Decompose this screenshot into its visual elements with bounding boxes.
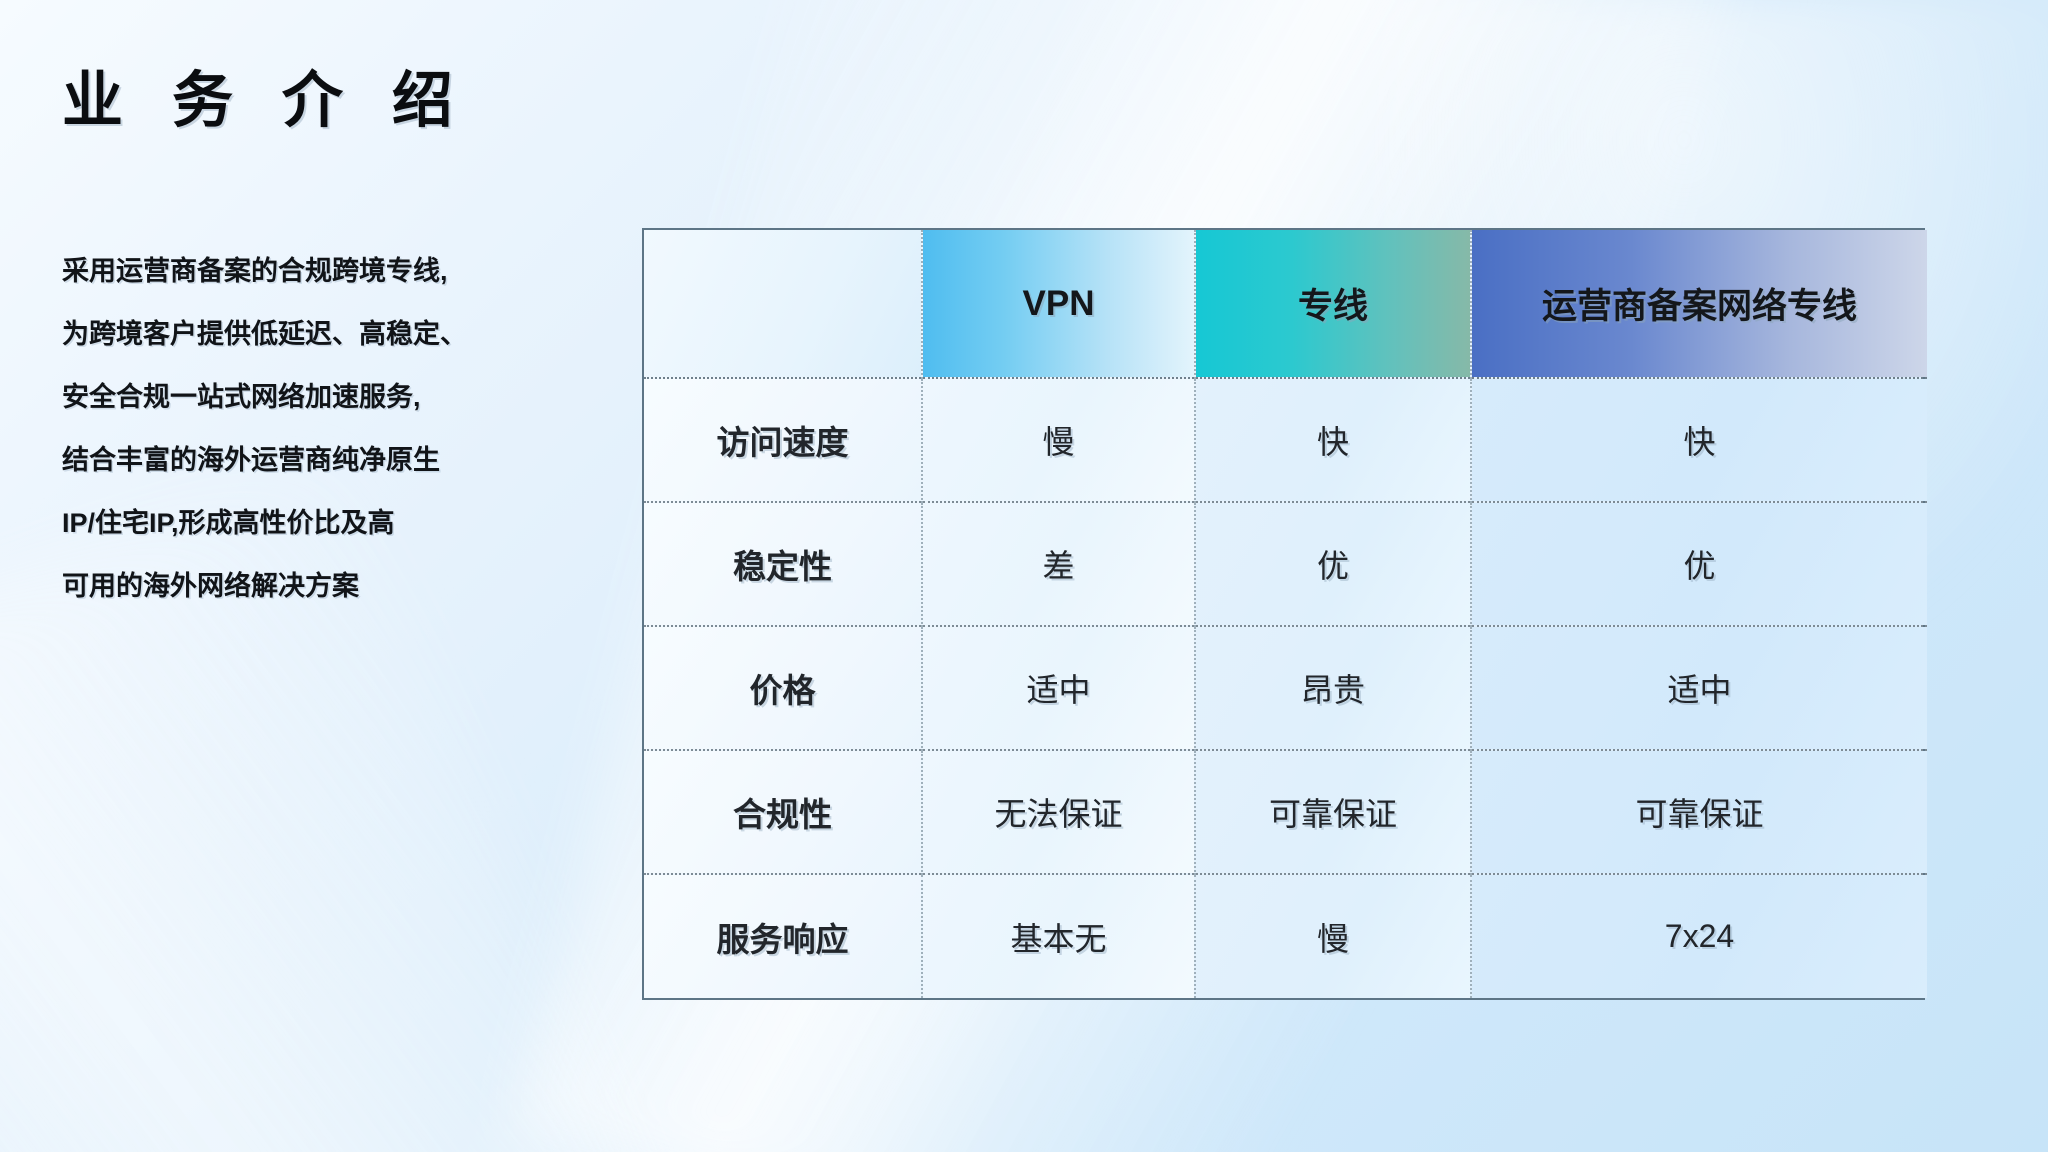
table-cell: 慢	[1195, 874, 1471, 998]
table-cell-text: 7x24	[1665, 918, 1734, 954]
table-cell-text: 基本无	[1010, 921, 1106, 957]
table-row: 合规性 无法保证 可靠保证 可靠保证	[644, 750, 1927, 874]
table-cell-text: 慢	[1317, 921, 1349, 957]
table-row: 价格 适中 昂贵 适中	[644, 626, 1927, 750]
table-cell-text: 昂贵	[1301, 672, 1365, 708]
table-cell: 适中	[922, 626, 1195, 750]
table-header-vpn-label: VPN	[1023, 284, 1095, 323]
table-header-corner	[644, 230, 922, 378]
description-line: 结合丰富的海外运营商纯净原生	[62, 429, 622, 492]
page-title: 业 务 介 绍	[62, 50, 469, 139]
row-label-text: 合规性	[733, 796, 832, 833]
table-cell: 优	[1195, 502, 1471, 626]
row-label: 合规性	[644, 750, 922, 874]
row-label: 访问速度	[644, 378, 922, 502]
table-cell: 7x24	[1471, 874, 1927, 998]
table-cell: 可靠保证	[1195, 750, 1471, 874]
row-label-text: 稳定性	[733, 548, 832, 585]
description-line: 采用运营商备案的合规跨境专线,	[62, 240, 622, 303]
description-paragraph: 采用运营商备案的合规跨境专线, 为跨境客户提供低延迟、高稳定、 安全合规一站式网…	[62, 240, 622, 618]
table-cell: 快	[1471, 378, 1927, 502]
table-header-dedicated-line: 专线	[1195, 230, 1471, 378]
table-cell-text: 可靠保证	[1269, 796, 1397, 832]
slide-canvas: 业 务 介 绍 采用运营商备案的合规跨境专线, 为跨境客户提供低延迟、高稳定、 …	[0, 0, 2048, 1152]
row-label-text: 价格	[750, 672, 816, 709]
table-cell: 昂贵	[1195, 626, 1471, 750]
table-header-registered-line-label: 运营商备案网络专线	[1542, 287, 1857, 326]
description-line: 可用的海外网络解决方案	[62, 555, 622, 618]
table-cell-text: 优	[1683, 548, 1715, 584]
table-cell-text: 优	[1317, 548, 1349, 584]
table-header-row: VPN 专线 运营商备案网络专线	[644, 230, 1927, 378]
table-row: 稳定性 差 优 优	[644, 502, 1927, 626]
table-cell: 差	[922, 502, 1195, 626]
table-cell: 快	[1195, 378, 1471, 502]
table-cell-text: 快	[1683, 424, 1715, 460]
table-header-registered-line: 运营商备案网络专线	[1471, 230, 1927, 378]
table-cell-text: 快	[1317, 424, 1349, 460]
comparison-table: VPN 专线 运营商备案网络专线 访问速度 慢 快 快	[642, 228, 1925, 1000]
table-cell: 优	[1471, 502, 1927, 626]
row-label: 稳定性	[644, 502, 922, 626]
description-line: 为跨境客户提供低延迟、高稳定、	[62, 303, 622, 366]
row-label-text: 访问速度	[717, 424, 849, 461]
table-cell-text: 适中	[1667, 672, 1731, 708]
table-header-vpn: VPN	[922, 230, 1195, 378]
table-header-dedicated-line-label: 专线	[1298, 287, 1368, 326]
table-cell-text: 差	[1042, 548, 1074, 584]
table-cell: 适中	[1471, 626, 1927, 750]
row-label: 价格	[644, 626, 922, 750]
description-line: 安全合规一站式网络加速服务,	[62, 366, 622, 429]
description-line: IP/住宅IP,形成高性价比及高	[62, 492, 622, 555]
table-cell: 可靠保证	[1471, 750, 1927, 874]
row-label-text: 服务响应	[717, 921, 849, 958]
table-cell: 无法保证	[922, 750, 1195, 874]
table-cell-text: 适中	[1026, 672, 1090, 708]
row-label: 服务响应	[644, 874, 922, 998]
table-cell-text: 慢	[1042, 424, 1074, 460]
table-row: 服务响应 基本无 慢 7x24	[644, 874, 1927, 998]
table-cell: 慢	[922, 378, 1195, 502]
table-cell-text: 可靠保证	[1635, 796, 1763, 832]
table-row: 访问速度 慢 快 快	[644, 378, 1927, 502]
table-cell: 基本无	[922, 874, 1195, 998]
table-cell-text: 无法保证	[994, 796, 1122, 832]
